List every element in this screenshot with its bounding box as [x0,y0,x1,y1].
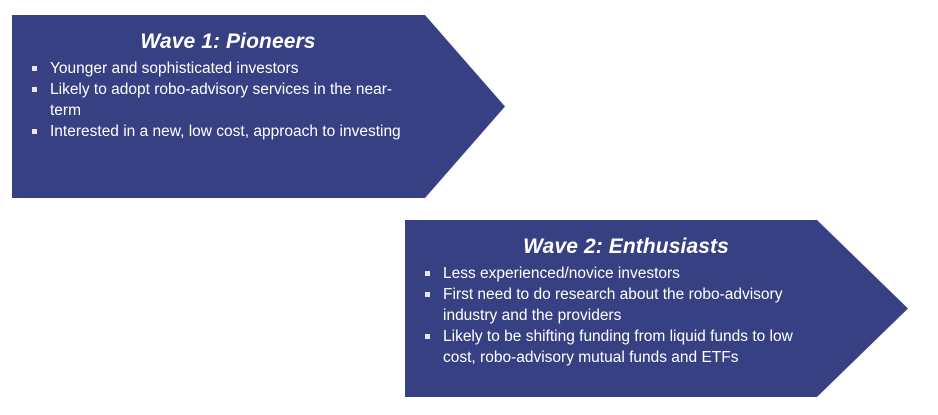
square-bullet-icon [32,129,37,134]
bullet-text: Likely to adopt robo-advisory services i… [50,79,419,121]
bullet-text: Interested in a new, low cost, approach … [50,121,419,142]
wave-2-bullet-list: Less experienced/novice investors First … [422,263,814,368]
wave-1-arrow[interactable]: Wave 1: Pioneers Younger and sophisticat… [12,15,505,198]
wave-2-title: Wave 2: Enthusiasts [422,234,814,259]
square-bullet-icon [32,66,37,71]
square-bullet-icon [425,334,430,339]
bullet-text: First need to do research about the robo… [443,284,814,326]
bullet-text: Less experienced/novice investors [443,263,814,284]
square-bullet-icon [32,87,37,92]
bullet-text: Likely to be shifting funding from liqui… [443,326,814,368]
square-bullet-icon [425,271,430,276]
list-item: Likely to be shifting funding from liqui… [422,326,814,368]
list-item: Less experienced/novice investors [422,263,814,284]
square-bullet-icon [425,292,430,297]
wave-2-arrow[interactable]: Wave 2: Enthusiasts Less experienced/nov… [405,220,908,397]
wave-1-bullet-list: Younger and sophisticated investors Like… [29,58,419,142]
wave-1-content: Wave 1: Pioneers Younger and sophisticat… [29,29,419,142]
bullet-text: Younger and sophisticated investors [50,58,419,79]
list-item: First need to do research about the robo… [422,284,814,326]
wave-1-title: Wave 1: Pioneers [29,29,419,54]
list-item: Likely to adopt robo-advisory services i… [29,79,419,121]
wave-2-content: Wave 2: Enthusiasts Less experienced/nov… [422,234,814,368]
diagram-canvas: Wave 1: Pioneers Younger and sophisticat… [0,0,938,415]
list-item: Younger and sophisticated investors [29,58,419,79]
list-item: Interested in a new, low cost, approach … [29,121,419,142]
